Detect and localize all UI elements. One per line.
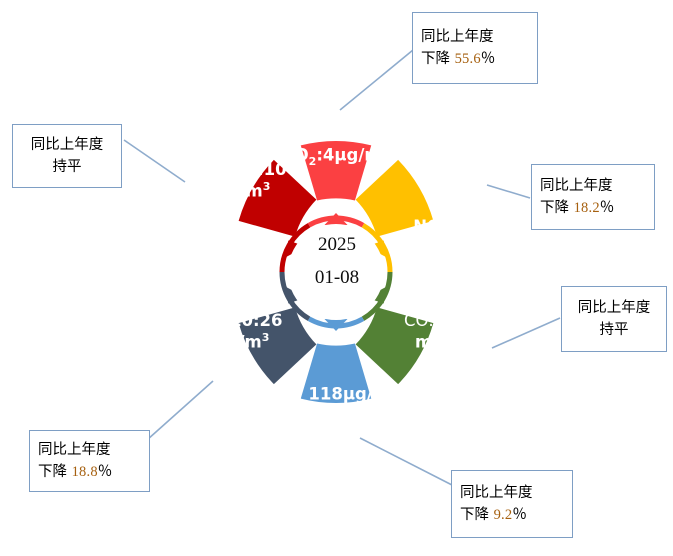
segment-label-pm10: PM10:26 µg/m3 bbox=[186, 311, 298, 353]
o3-name: O bbox=[274, 385, 288, 404]
co-unit-exponent: 3 bbox=[467, 331, 475, 344]
callout-so2-line1: 同比上年度 bbox=[421, 26, 529, 48]
callout-pm25-line2: 持平 bbox=[21, 156, 113, 178]
pm10-unit: µg/m bbox=[215, 333, 262, 352]
center-date-year: 2025 bbox=[318, 234, 356, 255]
callout-o3-line1: 同比上年度 bbox=[460, 482, 564, 504]
callout-pm10[interactable]: 同比上年度 下降 18.8％ bbox=[29, 430, 150, 492]
callout-so2-prefix: 下降 bbox=[421, 51, 455, 67]
callout-o3-line2: 下降 9.2％ bbox=[460, 504, 564, 526]
pm25-unit: µg/m bbox=[216, 182, 263, 201]
no2-name: NO bbox=[413, 217, 441, 236]
segment-label-pm25: PM2.5:10 µg/m3 bbox=[182, 160, 304, 202]
callout-co-line2: 持平 bbox=[570, 319, 658, 341]
callout-so2-line2: 下降 55.6％ bbox=[421, 48, 529, 70]
center-date-day: 01-08 bbox=[290, 267, 384, 289]
co-name: CO: bbox=[404, 311, 434, 330]
pm10-name-value: PM10:26 bbox=[201, 311, 282, 330]
no2-subscript: 2 bbox=[441, 226, 449, 239]
center-date: 2025 01-08 bbox=[290, 234, 384, 289]
callout-no2-number: 18.2 bbox=[574, 200, 600, 216]
segment-label-o3: O3: 118µg/m3 bbox=[262, 383, 410, 407]
callout-no2-line1: 同比上年度 bbox=[540, 175, 646, 197]
callout-so2-suffix: ％ bbox=[481, 51, 496, 67]
callout-o3-prefix: 下降 bbox=[460, 507, 494, 523]
so2-unit-exponent: 3 bbox=[382, 144, 390, 157]
callout-pm10-number: 18.8 bbox=[72, 464, 98, 480]
so2-value: :4µg/m bbox=[316, 146, 381, 165]
pm10-unit-exponent: 3 bbox=[262, 331, 270, 344]
callout-pm10-line1: 同比上年度 bbox=[38, 439, 141, 461]
callout-no2-line2: 下降 18.2％ bbox=[540, 197, 646, 219]
no2-unit: µg/m bbox=[413, 241, 460, 260]
callout-so2[interactable]: 同比上年度 下降 55.6％ bbox=[412, 12, 538, 84]
air-quality-donut-infographic: 2025 01-08 SO2:4µg/m3 NO2:9 µg/m3 CO:0.4… bbox=[0, 0, 673, 556]
callout-pm25[interactable]: 同比上年度 持平 bbox=[12, 124, 122, 188]
segment-label-no2: NO2:9 µg/m3 bbox=[392, 217, 488, 261]
callout-co-line1: 同比上年度 bbox=[570, 297, 658, 319]
callout-o3-suffix: ％ bbox=[512, 507, 527, 523]
pm25-unit-exponent: 3 bbox=[263, 180, 271, 193]
co-value: 0.400 bbox=[434, 311, 486, 330]
callout-o3-number: 9.2 bbox=[494, 507, 513, 523]
o3-unit-exponent: 3 bbox=[390, 383, 398, 396]
no2-unit-exponent: 3 bbox=[460, 240, 468, 253]
callout-co[interactable]: 同比上年度 持平 bbox=[561, 286, 667, 352]
o3-subscript: 3 bbox=[288, 394, 296, 407]
callout-o3[interactable]: 同比上年度 下降 9.2％ bbox=[451, 470, 573, 538]
pm25-name-value: PM2.5:10 bbox=[199, 160, 286, 179]
callout-no2-prefix: 下降 bbox=[540, 200, 574, 216]
callout-pm10-prefix: 下降 bbox=[38, 464, 72, 480]
callout-no2-suffix: ％ bbox=[600, 200, 615, 216]
segment-label-co: CO:0.400 mg/m3 bbox=[392, 311, 498, 353]
co-unit: mg/m bbox=[415, 333, 467, 352]
callout-so2-number: 55.6 bbox=[455, 51, 481, 67]
callout-pm25-line1: 同比上年度 bbox=[21, 134, 113, 156]
o3-value: : 118µg/m bbox=[296, 385, 390, 404]
callout-pm10-suffix: ％ bbox=[98, 464, 113, 480]
callout-no2[interactable]: 同比上年度 下降 18.2％ bbox=[531, 164, 655, 230]
no2-value: :9 bbox=[449, 217, 467, 236]
callout-pm10-line2: 下降 18.8％ bbox=[38, 461, 141, 483]
